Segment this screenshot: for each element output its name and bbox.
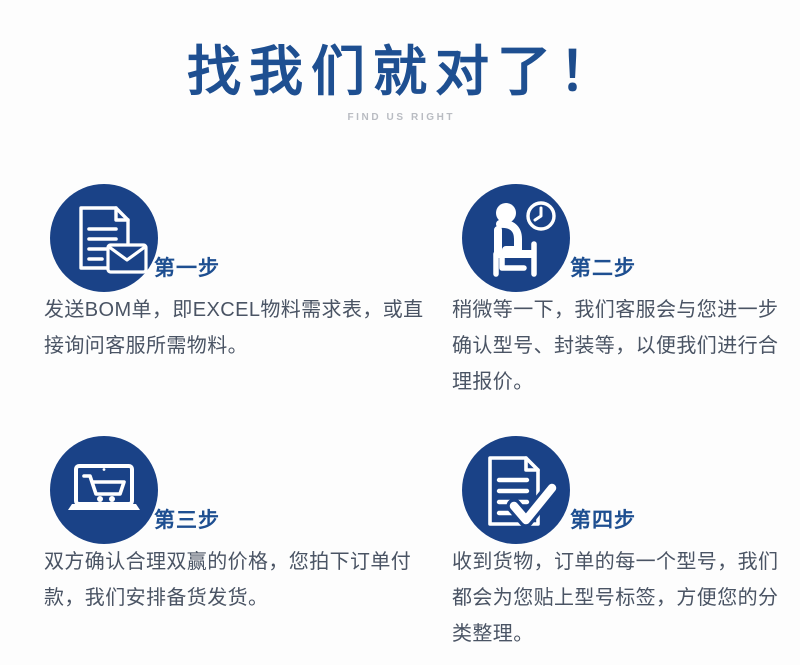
step-4-label: 第四步 [570,504,636,534]
step-2-label: 第二步 [570,252,636,282]
step-4-text: 收到货物，订单的每一个型号，我们都会为您贴上型号标签，方便您的分类整理。 [442,544,790,652]
step-3-header: 第三步 [30,420,430,542]
step-card-1: 第一步 发送BOM单，即EXCEL物料需求表，或直接询问客服所需物料。 [30,168,430,364]
steps-grid: 第一步 发送BOM单，即EXCEL物料需求表，或直接询问客服所需物料。 第二步 … [0,168,800,665]
step-2-text: 稍微等一下，我们客服会与您进一步确认型号、封装等，以便我们进行合理报价。 [442,292,790,400]
document-envelope-icon [50,184,158,292]
step-1-label: 第一步 [154,252,220,282]
step-card-2: 第二步 稍微等一下，我们客服会与您进一步确认型号、封装等，以便我们进行合理报价。 [442,168,790,400]
page-header: 找我们就对了！ FIND US RIGHT [0,0,800,150]
step-3-badge [50,436,158,544]
step-card-4: 第四步 收到货物，订单的每一个型号，我们都会为您贴上型号标签，方便您的分类整理。 [442,420,790,652]
laptop-shopping-cart-icon [50,436,158,544]
step-4-header: 第四步 [442,420,790,542]
step-3-label: 第三步 [154,504,220,534]
page-subtitle: FIND US RIGHT [0,100,800,124]
page-title: 找我们就对了！ [0,0,800,100]
step-1-badge [50,184,158,292]
page-title-text: 找我们就对了 [187,42,559,102]
step-4-badge [462,436,570,544]
step-3-text: 双方确认合理双赢的价格，您拍下订单付款，我们安排备货发货。 [30,544,430,616]
page-title-exclamation: ！ [559,42,621,102]
step-card-3: 第三步 双方确认合理双赢的价格，您拍下订单付款，我们安排备货发货。 [30,420,430,616]
step-1-header: 第一步 [30,168,430,290]
step-1-text: 发送BOM单，即EXCEL物料需求表，或直接询问客服所需物料。 [30,292,430,364]
person-waiting-clock-icon [462,184,570,292]
step-2-badge [462,184,570,292]
document-check-icon [462,436,570,544]
step-2-header: 第二步 [442,168,790,290]
